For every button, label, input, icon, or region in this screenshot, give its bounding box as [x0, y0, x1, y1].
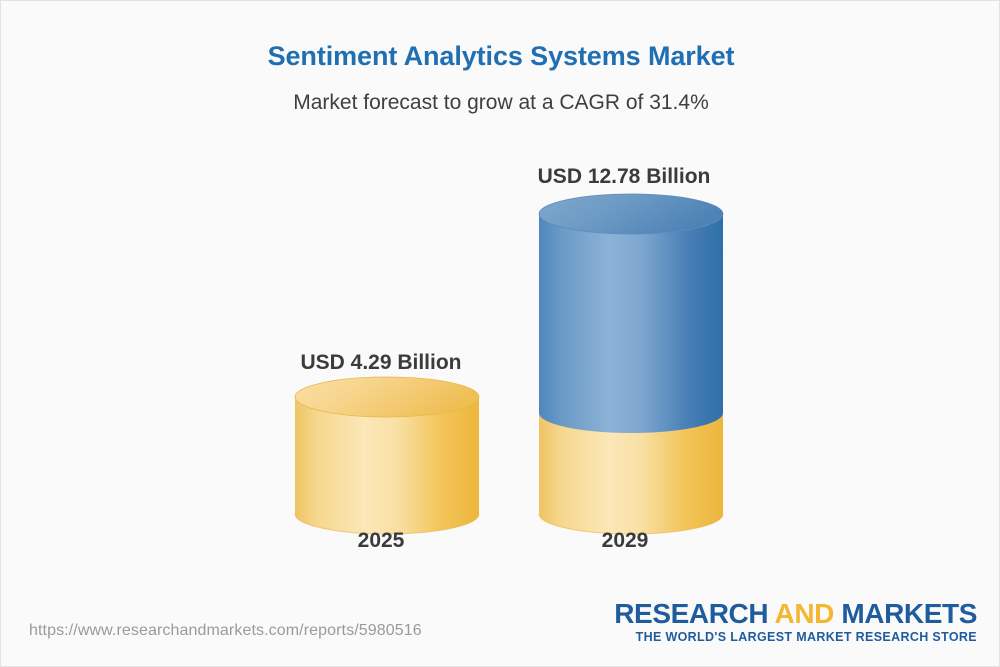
category-label-2029: 2029 [525, 529, 725, 553]
category-label-2025: 2025 [281, 529, 481, 553]
data-label-2025: USD 4.29 Billion [231, 351, 531, 375]
chart-card: Sentiment Analytics Systems Market Marke… [0, 0, 1000, 667]
cylinder-chart-plot [1, 1, 1000, 667]
logo-word-markets: MARKETS [841, 598, 977, 629]
bar-2025-top-cap [295, 377, 479, 417]
bar-2025 [295, 377, 479, 534]
logo-wordmark: RESEARCH AND MARKETS [614, 599, 977, 628]
bar-2029-top-cap [539, 194, 723, 234]
bar-2029 [539, 194, 723, 534]
data-label-2029: USD 12.78 Billion [474, 165, 774, 189]
bar-2029-growth-segment [539, 214, 723, 433]
logo-word-research: RESEARCH [614, 598, 774, 629]
bar-2025-body [295, 397, 479, 534]
report-url[interactable]: https://www.researchandmarkets.com/repor… [29, 622, 422, 640]
brand-logo[interactable]: RESEARCH AND MARKETS THE WORLD'S LARGEST… [614, 599, 977, 644]
logo-word-and: AND [775, 598, 842, 629]
logo-tagline: THE WORLD'S LARGEST MARKET RESEARCH STOR… [614, 630, 977, 644]
